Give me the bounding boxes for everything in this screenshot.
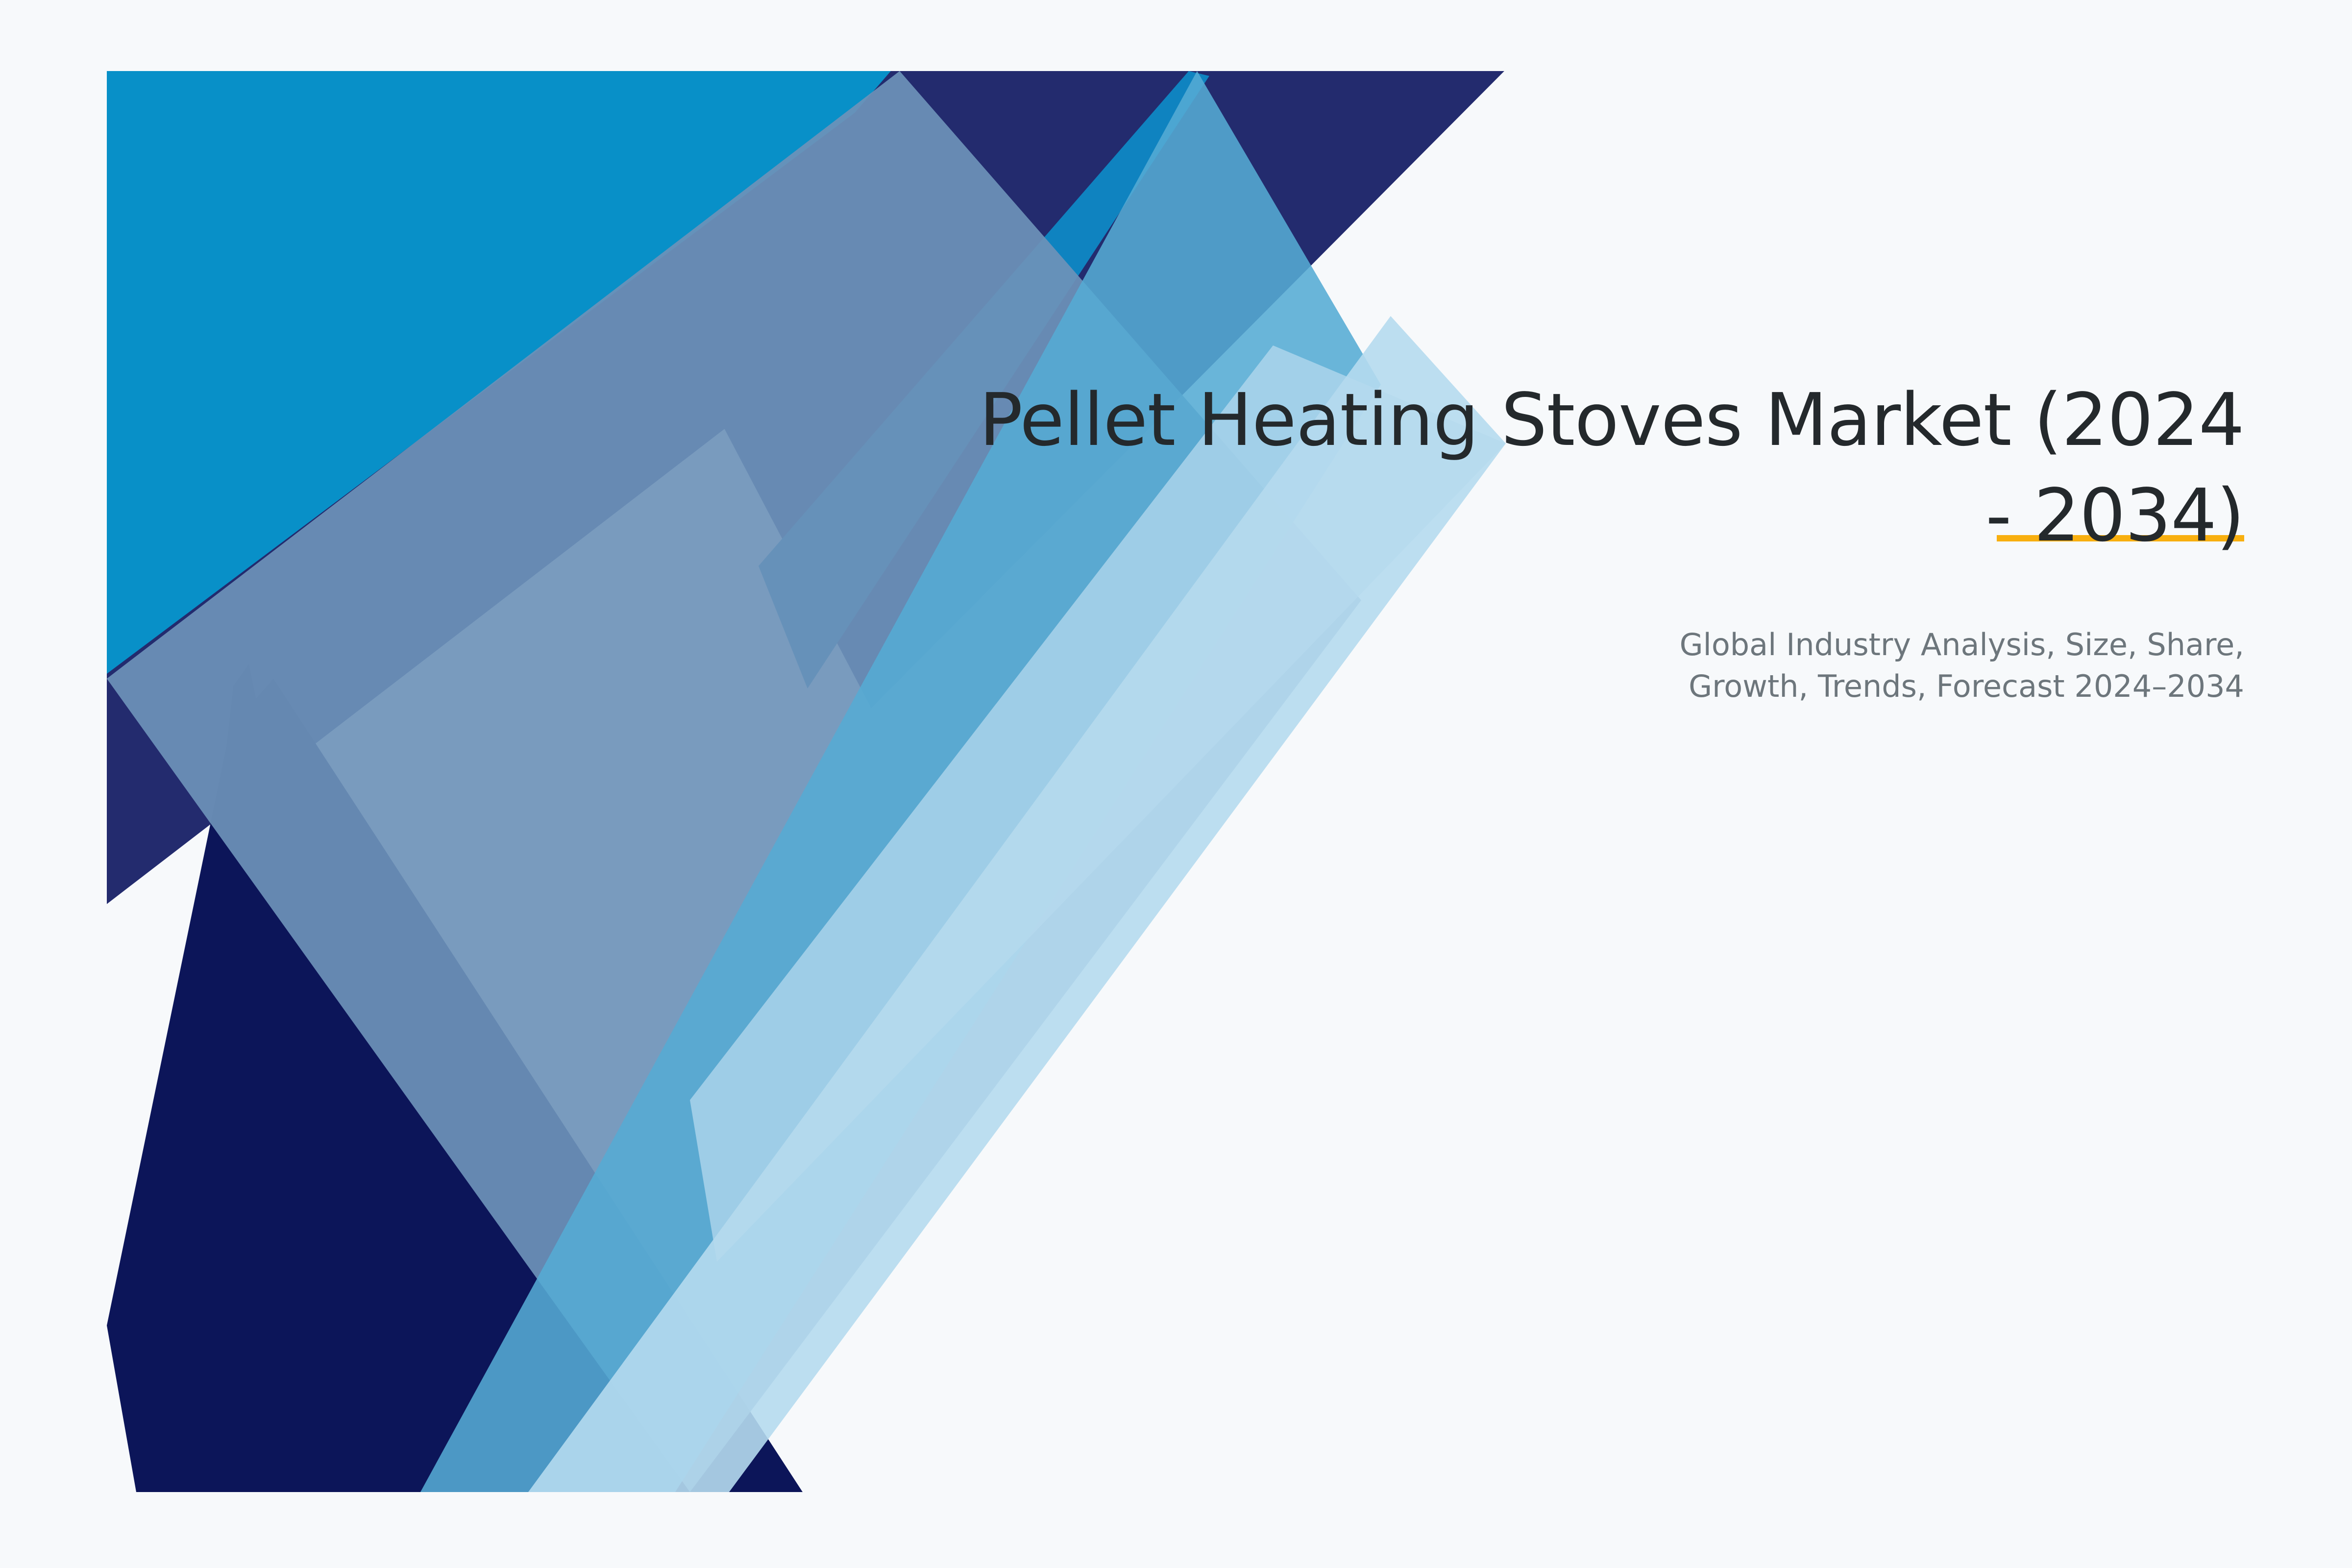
page-title: Pellet Heating Stoves Market (2024 - 203…: [931, 372, 2244, 564]
title-wrapper: Pellet Heating Stoves Market (2024 - 203…: [931, 372, 2244, 564]
page-subtitle: Global Industry Analysis, Size, Share, G…: [931, 564, 2244, 708]
cover-artwork: [107, 71, 1506, 1492]
artwork-svg: [107, 71, 1506, 1492]
cover-text-block: Pellet Heating Stoves Market (2024 - 203…: [931, 372, 2244, 708]
report-cover: Pellet Heating Stoves Market (2024 - 203…: [0, 0, 2352, 1568]
